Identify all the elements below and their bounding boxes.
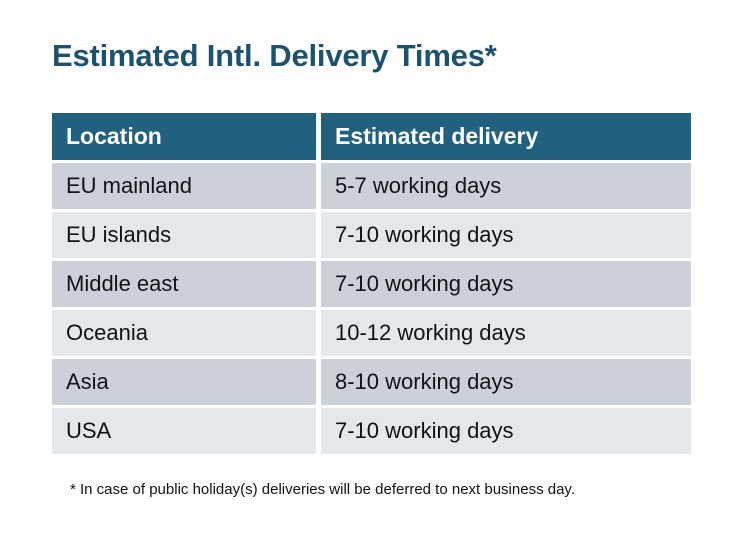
delivery-times-panel: Estimated Intl. Delivery Times* Location… (0, 0, 745, 536)
cell-location: Oceania (52, 310, 316, 356)
column-header-location: Location (52, 113, 316, 160)
table-row: Oceania 10-12 working days (52, 310, 691, 356)
table-row: EU mainland 5-7 working days (52, 163, 691, 209)
cell-location: EU islands (52, 212, 316, 258)
cell-estimated-delivery: 7-10 working days (321, 212, 691, 258)
cell-estimated-delivery: 7-10 working days (321, 408, 691, 454)
page-title: Estimated Intl. Delivery Times* (52, 38, 497, 74)
table-row: Asia 8-10 working days (52, 359, 691, 405)
cell-location: USA (52, 408, 316, 454)
delivery-times-table: Location Estimated delivery EU mainland … (52, 113, 691, 454)
column-header-estimated-delivery: Estimated delivery (321, 113, 691, 160)
cell-location: Middle east (52, 261, 316, 307)
cell-estimated-delivery: 5-7 working days (321, 163, 691, 209)
table-row: EU islands 7-10 working days (52, 212, 691, 258)
table-row: USA 7-10 working days (52, 408, 691, 454)
table-header-row: Location Estimated delivery (52, 113, 691, 160)
cell-estimated-delivery: 10-12 working days (321, 310, 691, 356)
cell-location: EU mainland (52, 163, 316, 209)
cell-location: Asia (52, 359, 316, 405)
footnote-text: * In case of public holiday(s) deliverie… (70, 481, 575, 498)
table-row: Middle east 7-10 working days (52, 261, 691, 307)
cell-estimated-delivery: 8-10 working days (321, 359, 691, 405)
cell-estimated-delivery: 7-10 working days (321, 261, 691, 307)
